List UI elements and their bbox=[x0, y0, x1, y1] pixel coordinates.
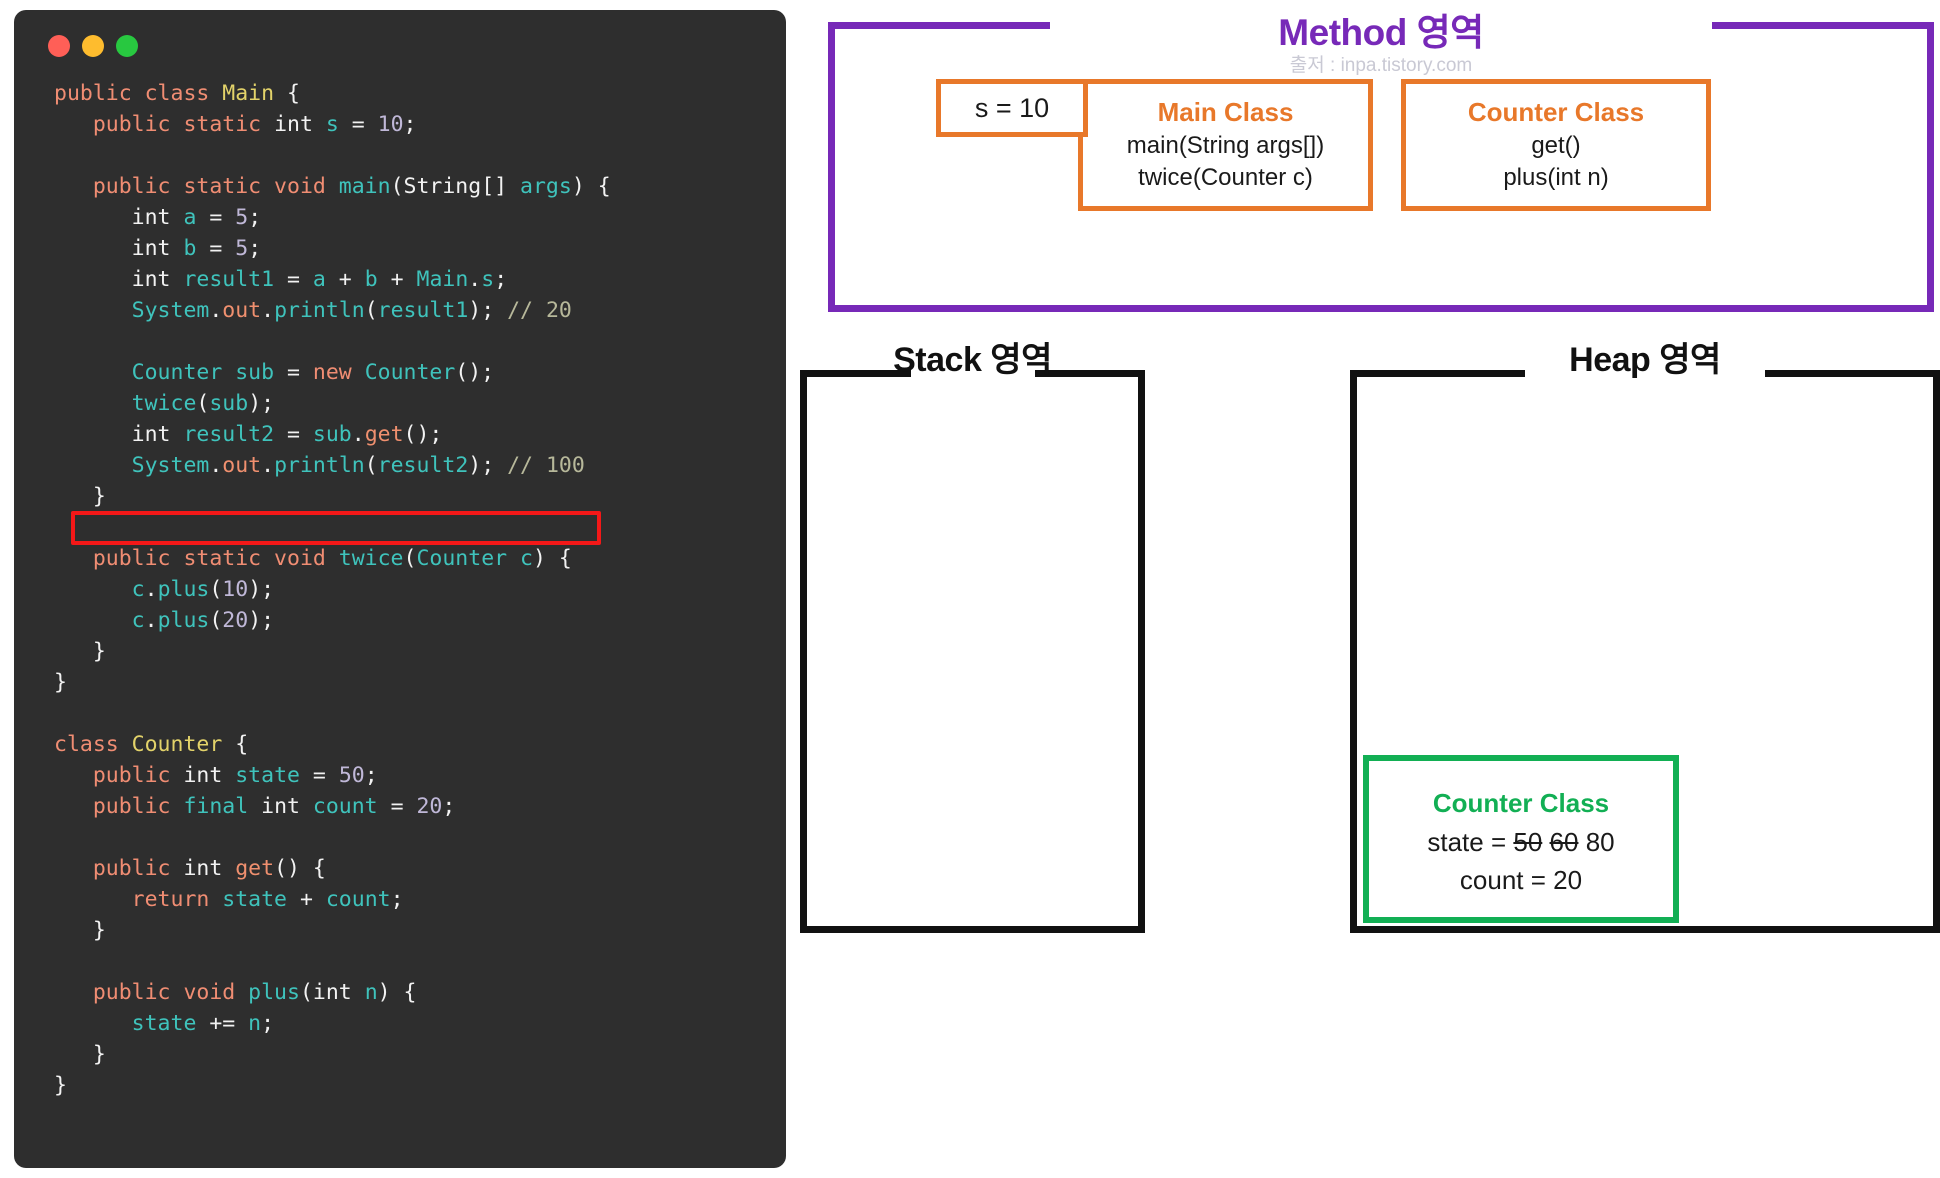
code-token: get bbox=[365, 422, 404, 447]
code-token: = bbox=[274, 267, 313, 292]
code-line: return state + count; bbox=[54, 884, 786, 915]
static-field-value: s = 10 bbox=[975, 93, 1049, 124]
code-token: = bbox=[196, 236, 235, 261]
code-token: + bbox=[287, 887, 326, 912]
code-line: public static void main(String[] args) { bbox=[54, 171, 786, 202]
heap-object-title: Counter Class bbox=[1369, 783, 1673, 823]
code-token: += bbox=[196, 1011, 248, 1036]
code-token: state bbox=[54, 1011, 196, 1036]
code-token: . bbox=[145, 577, 158, 602]
code-token: = bbox=[196, 205, 235, 230]
code-token: int bbox=[54, 236, 183, 261]
code-token: args bbox=[520, 174, 572, 199]
code-line: c.plus(10); bbox=[54, 574, 786, 605]
code-token: } bbox=[54, 1042, 106, 1067]
stack-area-border-bottom bbox=[800, 926, 1145, 933]
code-line: c.plus(20); bbox=[54, 605, 786, 636]
code-token: public bbox=[54, 81, 145, 106]
code-token: ; bbox=[442, 794, 455, 819]
code-line: System.out.println(result2); // 100 bbox=[54, 450, 786, 481]
code-token: { bbox=[222, 732, 248, 757]
code-token: ( bbox=[365, 298, 378, 323]
code-token: state bbox=[222, 887, 287, 912]
code-token: ); bbox=[468, 298, 507, 323]
code-token: public static bbox=[54, 112, 274, 137]
heap-area-panel: Heap 영역 Counter Class state = 50 60 80 c… bbox=[1350, 370, 1940, 933]
code-token: result2 bbox=[183, 422, 274, 447]
method-area-border-bottom bbox=[828, 305, 1934, 312]
stack-area-title: Stack 영역 bbox=[800, 332, 1145, 381]
heap-area-title: Heap 영역 bbox=[1350, 332, 1940, 381]
code-token: result1 bbox=[378, 298, 469, 323]
heap-area-border-left bbox=[1350, 370, 1357, 933]
code-token: ); bbox=[248, 577, 274, 602]
code-token: count bbox=[313, 794, 378, 819]
code-token: 10 bbox=[222, 577, 248, 602]
code-token: = bbox=[274, 360, 313, 385]
code-token: int bbox=[183, 763, 235, 788]
stack-area-border-left bbox=[800, 370, 807, 933]
code-token: public static void bbox=[54, 546, 339, 571]
code-token: b bbox=[183, 236, 196, 261]
code-line: public static int s = 10; bbox=[54, 109, 786, 140]
code-token: Main bbox=[417, 267, 469, 292]
code-token: out bbox=[222, 453, 261, 478]
heap-area-border-right bbox=[1933, 370, 1940, 933]
code-line bbox=[54, 140, 786, 171]
code-token: new bbox=[313, 360, 365, 385]
code-token: = bbox=[274, 422, 313, 447]
code-token: Counter bbox=[54, 360, 235, 385]
main-class-title: Main Class bbox=[1083, 94, 1368, 130]
code-token: String bbox=[404, 174, 482, 199]
code-token: c bbox=[520, 546, 533, 571]
code-editor-window: public class Main { public static int s … bbox=[14, 10, 786, 1168]
code-line: System.out.println(result1); // 20 bbox=[54, 295, 786, 326]
code-line: int result1 = a + b + Main.s; bbox=[54, 264, 786, 295]
code-line bbox=[54, 512, 786, 543]
code-token: ; bbox=[391, 887, 404, 912]
code-line: } bbox=[54, 1070, 786, 1101]
code-token: a bbox=[183, 205, 196, 230]
code-token: return bbox=[54, 887, 222, 912]
heap-area-border-bottom bbox=[1350, 926, 1940, 933]
heap-object-field-count: count = 20 bbox=[1369, 861, 1673, 899]
field-state-old-1: 60 bbox=[1550, 827, 1579, 857]
code-token: sub bbox=[313, 422, 352, 447]
code-line: } bbox=[54, 481, 786, 512]
code-token: () { bbox=[274, 856, 326, 881]
code-token: c bbox=[54, 608, 145, 633]
code-line bbox=[54, 326, 786, 357]
window-titlebar bbox=[14, 10, 786, 82]
maximize-window-button[interactable] bbox=[116, 35, 138, 57]
code-token: final bbox=[183, 794, 261, 819]
code-line: } bbox=[54, 915, 786, 946]
main-class-member: twice(Counter c) bbox=[1083, 162, 1368, 194]
code-token: ) { bbox=[378, 980, 417, 1005]
code-token: 20 bbox=[222, 608, 248, 633]
code-line: } bbox=[54, 1039, 786, 1070]
code-token: sub bbox=[209, 391, 248, 416]
code-token: 5 bbox=[235, 205, 248, 230]
code-token: ) { bbox=[533, 546, 572, 571]
code-token: ( bbox=[209, 608, 222, 633]
code-token: 20 bbox=[416, 794, 442, 819]
code-token: class bbox=[54, 732, 132, 757]
code-token: main bbox=[339, 174, 391, 199]
source-watermark: 출저 : inpa.tistory.com bbox=[828, 50, 1934, 77]
code-token: count bbox=[326, 887, 391, 912]
code-token: . bbox=[261, 298, 274, 323]
code-token: state bbox=[235, 763, 300, 788]
code-line: state += n; bbox=[54, 1008, 786, 1039]
code-token: int bbox=[183, 856, 235, 881]
code-token: public void bbox=[54, 980, 248, 1005]
code-line: int result2 = sub.get(); bbox=[54, 419, 786, 450]
code-line: public void plus(int n) { bbox=[54, 977, 786, 1008]
code-line: } bbox=[54, 667, 786, 698]
code-token: = bbox=[339, 112, 378, 137]
static-field-box: s = 10 bbox=[936, 79, 1088, 137]
code-token: ; bbox=[248, 205, 261, 230]
field-count-current: 20 bbox=[1553, 865, 1582, 895]
code-token: public bbox=[54, 856, 183, 881]
code-token: } bbox=[54, 639, 106, 664]
code-token: s bbox=[326, 112, 339, 137]
code-token: result1 bbox=[183, 267, 274, 292]
close-window-button[interactable] bbox=[48, 35, 70, 57]
code-token: } bbox=[54, 918, 106, 943]
main-class-member: main(String args[]) bbox=[1083, 130, 1368, 162]
code-token: n bbox=[248, 1011, 261, 1036]
code-token: . bbox=[209, 298, 222, 323]
code-line: twice(sub); bbox=[54, 388, 786, 419]
code-token: int bbox=[274, 112, 326, 137]
code-token: plus bbox=[158, 577, 210, 602]
code-token: + bbox=[326, 267, 365, 292]
code-token: Main bbox=[222, 81, 274, 106]
field-state-label: state = bbox=[1427, 827, 1513, 857]
code-token: twice bbox=[339, 546, 404, 571]
code-token: ) { bbox=[572, 174, 611, 199]
code-token: a bbox=[313, 267, 326, 292]
code-token: b bbox=[365, 267, 378, 292]
counter-class-box: Counter Class get() plus(int n) bbox=[1401, 79, 1711, 211]
code-token: twice bbox=[54, 391, 196, 416]
code-token: } bbox=[54, 1073, 67, 1098]
code-line: Counter sub = new Counter(); bbox=[54, 357, 786, 388]
main-class-box: Main Class main(String args[]) twice(Cou… bbox=[1078, 79, 1373, 211]
code-token: 5 bbox=[235, 236, 248, 261]
code-token: . bbox=[209, 453, 222, 478]
code-token: ); bbox=[248, 391, 274, 416]
code-token: ); bbox=[468, 453, 507, 478]
heap-object-field-state: state = 50 60 80 bbox=[1369, 823, 1673, 861]
code-token: result2 bbox=[378, 453, 469, 478]
heap-counter-object-box: Counter Class state = 50 60 80 count = 2… bbox=[1363, 755, 1679, 923]
code-token: ; bbox=[494, 267, 507, 292]
code-content[interactable]: public class Main { public static int s … bbox=[14, 78, 786, 1101]
code-line: int a = 5; bbox=[54, 202, 786, 233]
code-token: ( bbox=[404, 546, 417, 571]
stack-area-panel: Stack 영역 bbox=[800, 370, 1145, 933]
code-token: println bbox=[274, 453, 365, 478]
code-token: 10 bbox=[378, 112, 404, 137]
field-state-current: 80 bbox=[1586, 827, 1615, 857]
code-token: ; bbox=[248, 236, 261, 261]
code-token: class bbox=[145, 81, 223, 106]
code-token: // 20 bbox=[507, 298, 572, 323]
code-line bbox=[54, 698, 786, 729]
code-line: public final int count = 20; bbox=[54, 791, 786, 822]
code-line: public class Main { bbox=[54, 78, 786, 109]
code-token: plus bbox=[248, 980, 300, 1005]
code-token: 50 bbox=[339, 763, 365, 788]
code-line: } bbox=[54, 636, 786, 667]
code-token: public bbox=[54, 794, 183, 819]
code-token: (); bbox=[455, 360, 494, 385]
counter-class-title: Counter Class bbox=[1406, 94, 1706, 130]
code-token: int bbox=[54, 205, 183, 230]
code-token: n bbox=[365, 980, 378, 1005]
code-token: s bbox=[481, 267, 494, 292]
code-token: sub bbox=[235, 360, 274, 385]
code-token: int bbox=[54, 422, 183, 447]
code-token: ( bbox=[209, 577, 222, 602]
code-token: + bbox=[378, 267, 417, 292]
code-token: int bbox=[313, 980, 365, 1005]
method-area-title: Method 영역 bbox=[828, 2, 1934, 56]
code-line: public static void twice(Counter c) { bbox=[54, 543, 786, 574]
code-token: get bbox=[235, 856, 274, 881]
stack-area-border-right bbox=[1138, 370, 1145, 933]
code-token: public bbox=[54, 763, 183, 788]
code-line: public int state = 50; bbox=[54, 760, 786, 791]
code-token: (); bbox=[404, 422, 443, 447]
code-token: ; bbox=[404, 112, 417, 137]
jvm-memory-diagram: Method 영역 출저 : inpa.tistory.com s = 10 M… bbox=[800, 0, 1940, 1178]
code-token: Counter bbox=[416, 546, 520, 571]
code-token: int bbox=[54, 267, 183, 292]
counter-class-member: get() bbox=[1406, 130, 1706, 162]
code-token: ; bbox=[365, 763, 378, 788]
code-token: } bbox=[54, 670, 67, 695]
code-token: public static void bbox=[54, 174, 339, 199]
code-token: [] bbox=[481, 174, 520, 199]
code-token: . bbox=[261, 453, 274, 478]
code-token: ( bbox=[300, 980, 313, 1005]
code-line: class Counter { bbox=[54, 729, 786, 760]
code-line bbox=[54, 946, 786, 977]
code-token: ; bbox=[261, 1011, 274, 1036]
code-token: = bbox=[300, 763, 339, 788]
code-token: { bbox=[274, 81, 300, 106]
method-area-panel: Method 영역 출저 : inpa.tistory.com s = 10 M… bbox=[828, 22, 1934, 312]
code-token: plus bbox=[158, 608, 210, 633]
code-token: Counter bbox=[365, 360, 456, 385]
code-token: = bbox=[378, 794, 417, 819]
field-state-old-0: 50 bbox=[1513, 827, 1542, 857]
counter-class-member: plus(int n) bbox=[1406, 162, 1706, 194]
code-token: System bbox=[54, 453, 209, 478]
code-token: ( bbox=[365, 453, 378, 478]
code-token: c bbox=[54, 577, 145, 602]
code-token: ( bbox=[196, 391, 209, 416]
code-token: ( bbox=[391, 174, 404, 199]
code-token: . bbox=[468, 267, 481, 292]
code-token: } bbox=[54, 484, 106, 509]
field-count-label: count = bbox=[1460, 865, 1553, 895]
code-line: public int get() { bbox=[54, 853, 786, 884]
code-token: // 100 bbox=[507, 453, 585, 478]
code-token: Counter bbox=[132, 732, 223, 757]
code-line: int b = 5; bbox=[54, 233, 786, 264]
code-token: System bbox=[54, 298, 209, 323]
code-token: . bbox=[145, 608, 158, 633]
code-token: int bbox=[261, 794, 313, 819]
code-token: . bbox=[352, 422, 365, 447]
code-token: out bbox=[222, 298, 261, 323]
minimize-window-button[interactable] bbox=[82, 35, 104, 57]
code-token: ); bbox=[248, 608, 274, 633]
code-line bbox=[54, 822, 786, 853]
code-token: println bbox=[274, 298, 365, 323]
